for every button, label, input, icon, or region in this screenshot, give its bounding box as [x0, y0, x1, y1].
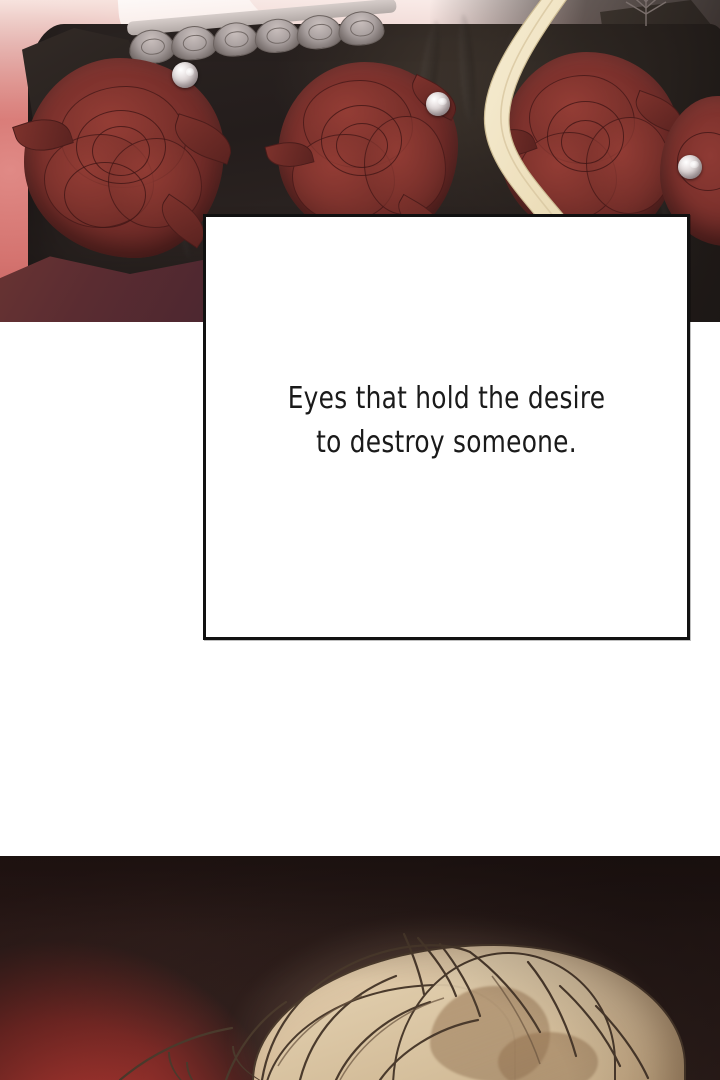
narration-line-1: Eyes that hold the desire — [225, 377, 668, 421]
rose-petal-line — [64, 162, 146, 228]
narration-text: Eyes that hold the desire to destroy som… — [225, 377, 668, 465]
narration-box: Eyes that hold the desire to destroy som… — [203, 214, 690, 640]
ornament-svg — [616, 0, 676, 32]
rose-petal-line — [336, 123, 388, 168]
panel-bottom-blonde-hair — [0, 856, 720, 1080]
rose-left — [24, 58, 224, 258]
hair-ornament — [616, 0, 662, 26]
comic-page: Eyes that hold the desire to destroy som… — [0, 0, 720, 1080]
narration-line-2: to destroy someone. — [225, 421, 668, 465]
pearl-2 — [426, 92, 450, 116]
pearl-3 — [678, 155, 702, 179]
pearl-1 — [172, 62, 198, 88]
panel-vignette — [0, 856, 720, 1080]
